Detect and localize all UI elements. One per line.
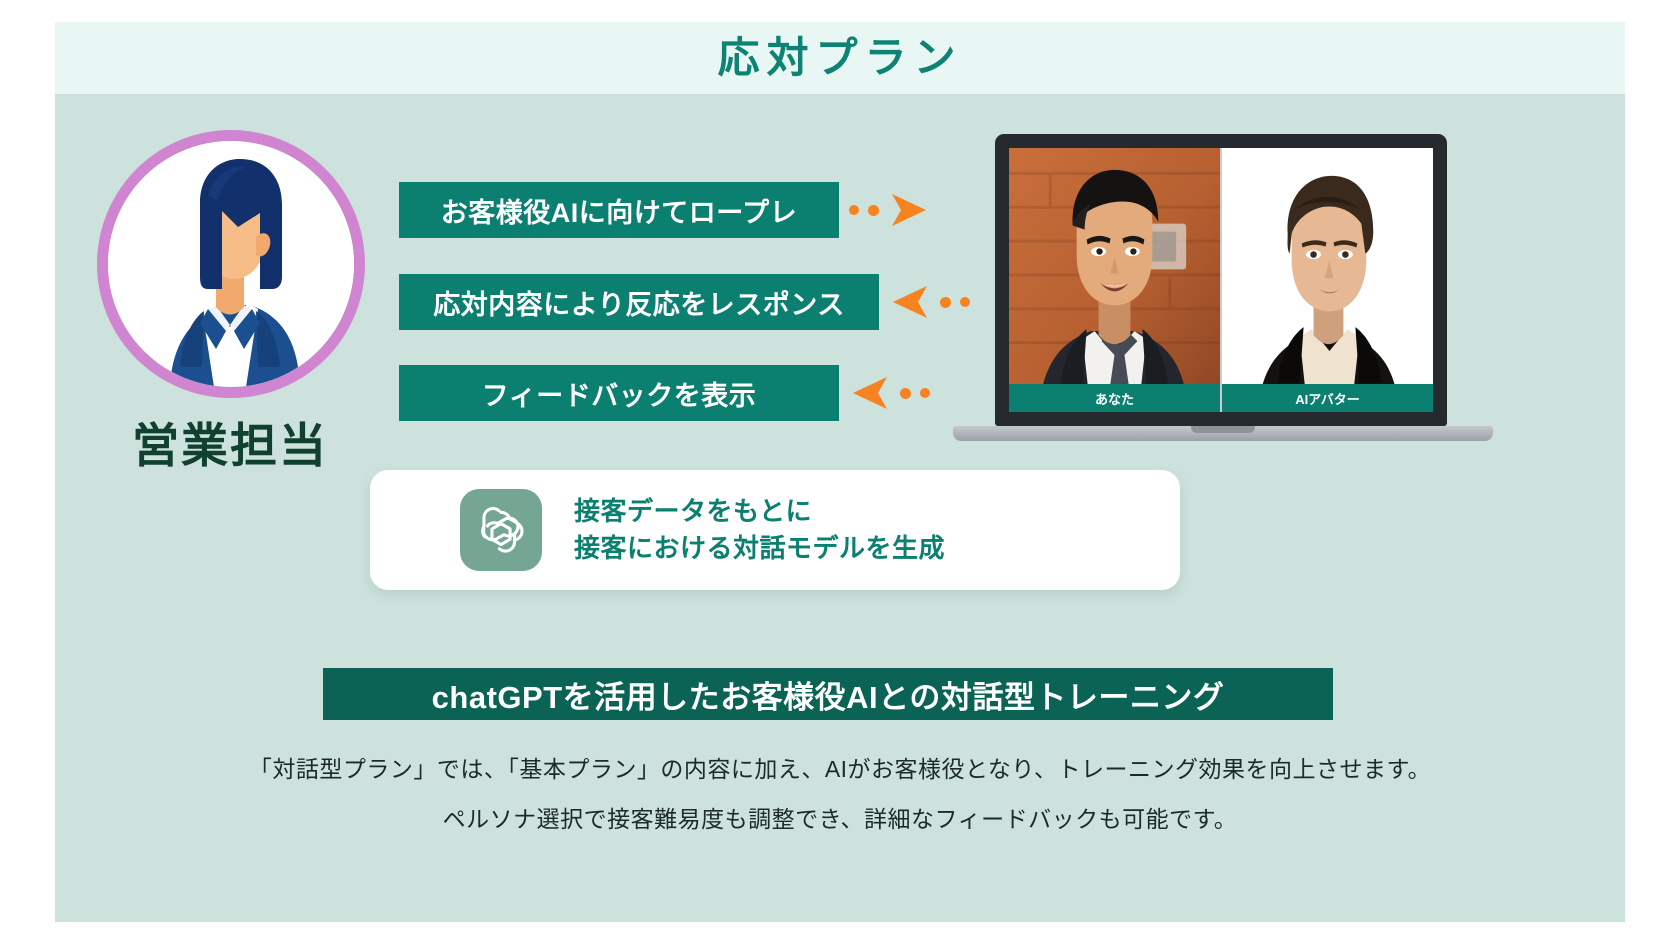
page-title: 応対プラン — [55, 22, 1625, 94]
business-woman-illustration-icon — [108, 141, 354, 387]
avatar-ring — [97, 130, 365, 398]
step-chip-feedback[interactable]: フィードバックを表示 — [399, 365, 839, 421]
video-pane-label: AIアバター — [1222, 384, 1433, 412]
arrow-left-icon — [891, 283, 931, 321]
video-pane-ai-avatar[interactable]: AIアバター — [1222, 148, 1433, 412]
female-ai-avatar-photo-icon — [1222, 148, 1433, 411]
persona-role-label: 営業担当 — [65, 407, 395, 476]
flow-dot-icon — [900, 388, 911, 399]
gpt-card-line-2: 接客における対話モデルを生成 — [574, 530, 945, 567]
laptop-screen: あなた — [1009, 148, 1433, 412]
flow-dot-icon — [940, 297, 951, 308]
flow-dot-icon — [868, 205, 879, 216]
gpt-card-text: 接客データをもとに 接客における対話モデルを生成 — [574, 493, 945, 567]
laptop-mockup: あなた — [953, 134, 1493, 464]
arrow-right-icon — [888, 191, 928, 229]
caption-line-1: 「対話型プラン」では、「基本プラン」の内容に加え、AIがお客様役となり、トレーニ… — [55, 750, 1625, 784]
gpt-card-line-1: 接客データをもとに — [574, 493, 945, 530]
video-pane-label: あなた — [1009, 384, 1220, 412]
flow-dot-icon — [849, 205, 859, 215]
laptop-body: あなた — [995, 134, 1447, 426]
video-pane-you[interactable]: あなた — [1009, 148, 1222, 412]
flow-marks-left — [851, 365, 930, 421]
laptop-notch — [1191, 426, 1255, 433]
step-chip-response[interactable]: 応対内容により反応をレスポンス — [399, 274, 879, 330]
step-chip-roleplay[interactable]: お客様役AIに向けてロープレ — [399, 182, 839, 238]
flow-dot-icon — [920, 388, 930, 398]
caption-line-2: ペルソナ選択で接客難易度も調整でき、詳細なフィードバックも可能です。 — [55, 800, 1625, 834]
avatar — [97, 130, 365, 398]
gpt-info-card: 接客データをもとに 接客における対話モデルを生成 — [370, 470, 1180, 590]
slide-canvas: 応対プラン — [55, 22, 1625, 922]
male-salesperson-photo-icon — [1009, 148, 1220, 411]
flow-marks-right — [849, 182, 928, 238]
arrow-left-icon — [851, 374, 891, 412]
openai-logo-icon — [460, 489, 542, 571]
summary-banner: chatGPTを活用したお客様役AIとの対話型トレーニング — [323, 668, 1333, 720]
